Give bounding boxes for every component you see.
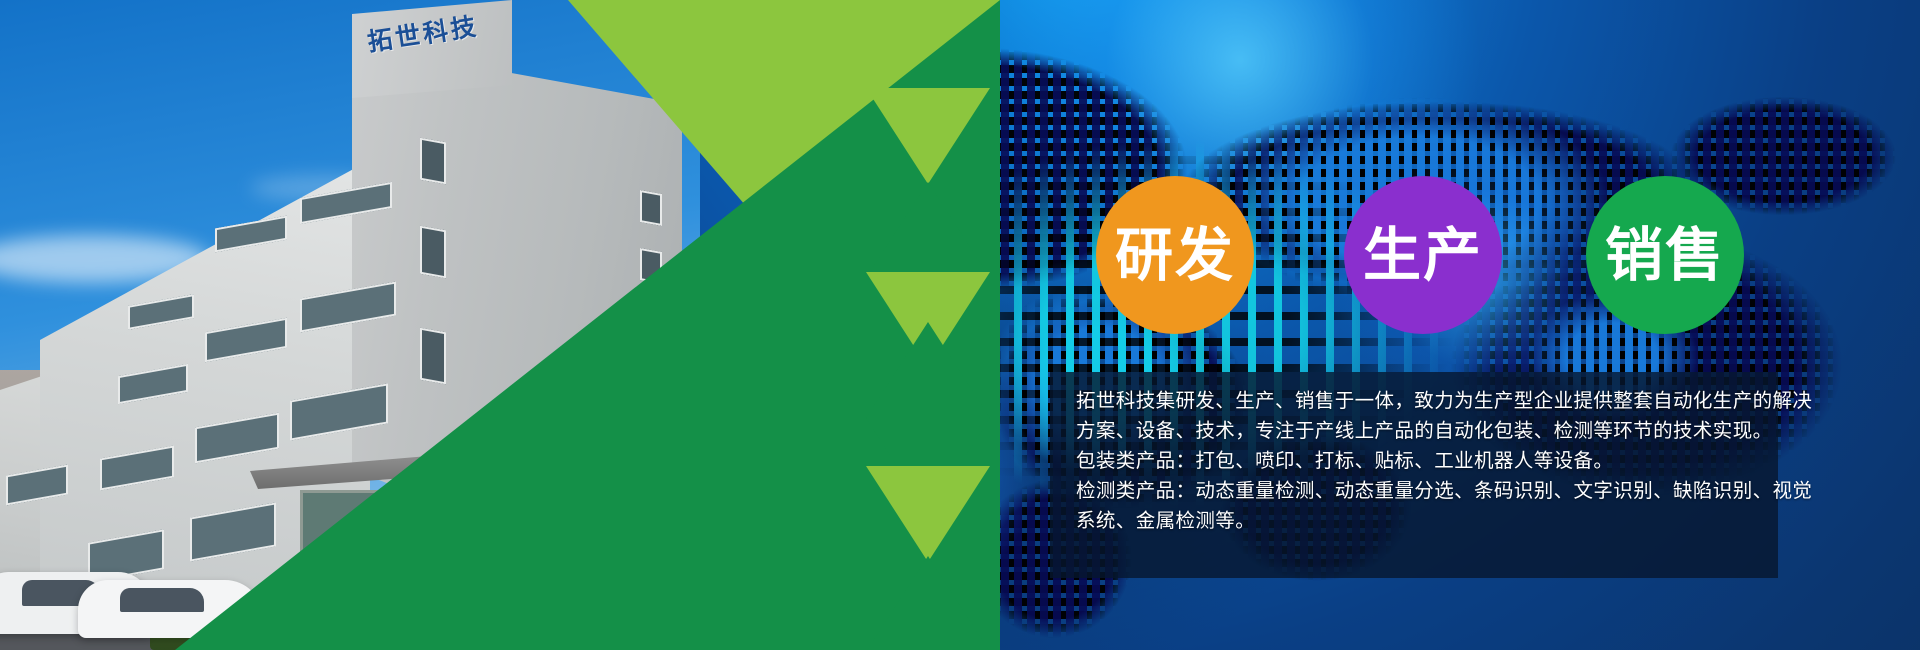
- car-window: [120, 588, 204, 612]
- description-line-1: 拓世科技集研发、生产、销售于一体，致力为生产型企业提供整套自动化生产的解决: [1076, 386, 1756, 416]
- description-line-5: 系统、金属检测等。: [1076, 506, 1756, 536]
- description-line-3: 包装类产品：打包、喷印、打标、贴标、工业机器人等设备。: [1076, 446, 1756, 476]
- accent-triangle-down: [866, 88, 990, 184]
- company-banner: 拓世科技 研发 生产 销售 拓世科技集研发、生产、销售于一体，致力为生产型企业提…: [0, 0, 1920, 650]
- window: [420, 138, 446, 185]
- window: [420, 226, 446, 279]
- badge-rd-label: 研发: [1115, 226, 1235, 284]
- badge-rd[interactable]: 研发: [1096, 176, 1254, 334]
- accent-triangle-down: [866, 466, 990, 562]
- description-line-2: 方案、设备、技术，专注于产线上产品的自动化包装、检测等环节的技术实现。: [1076, 416, 1756, 446]
- description-line-4: 检测类产品：动态重量检测、动态重量分选、条码识别、文字识别、缺陷识别、视觉: [1076, 476, 1756, 506]
- badge-sales[interactable]: 销售: [1586, 176, 1744, 334]
- badge-production[interactable]: 生产: [1344, 176, 1502, 334]
- badge-sales-label: 销售: [1605, 226, 1725, 284]
- accent-triangle-up: [866, 322, 990, 418]
- window: [420, 328, 446, 385]
- accent-triangle-up: [866, 556, 990, 650]
- window: [640, 190, 662, 226]
- description-panel: 拓世科技集研发、生产、销售于一体，致力为生产型企业提供整套自动化生产的解决 方案…: [1050, 372, 1778, 578]
- badge-production-label: 生产: [1363, 226, 1483, 284]
